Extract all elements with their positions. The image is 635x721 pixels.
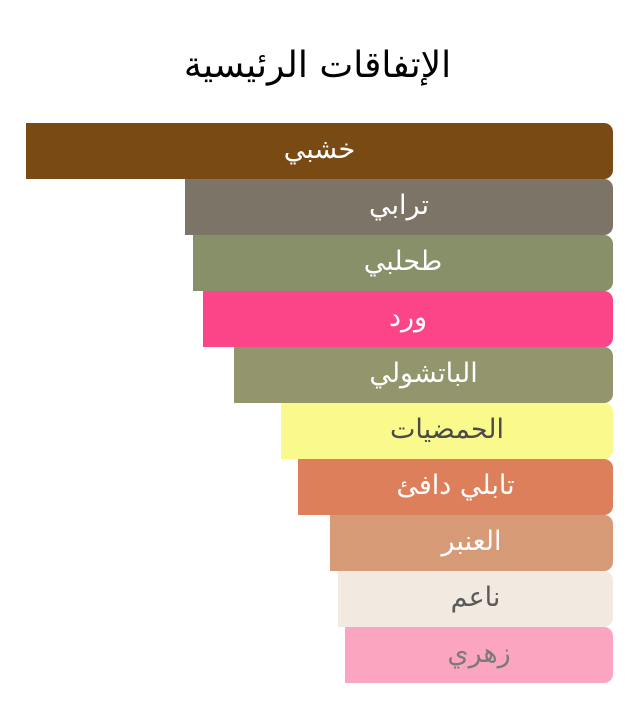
funnel-bar[interactable]: ناعم [338, 571, 613, 627]
funnel-bar[interactable]: العنبر [330, 515, 613, 571]
funnel-bar-label: الباتشولي [369, 359, 477, 391]
funnel-bar-label: طحلبي [364, 247, 443, 279]
funnel-bar[interactable]: الحمضيات [281, 403, 613, 459]
funnel-bar[interactable]: زهري [345, 627, 613, 683]
funnel-bar[interactable]: ترابي [185, 179, 613, 235]
funnel-bar-label: ناعم [451, 583, 501, 615]
funnel-bar[interactable]: تابلي دافئ [298, 459, 613, 515]
funnel-bar[interactable]: خشبي [26, 123, 613, 179]
funnel-bars-container: خشبيترابيطحلبيوردالباتشوليالحمضياتتابلي … [0, 0, 635, 721]
funnel-bar-label: ورد [389, 303, 427, 335]
funnel-bar[interactable]: طحلبي [193, 235, 613, 291]
funnel-bar[interactable]: الباتشولي [234, 347, 613, 403]
funnel-bar-label: العنبر [442, 527, 502, 559]
funnel-bar-label: الحمضيات [390, 415, 504, 447]
funnel-bar[interactable]: ورد [203, 291, 613, 347]
funnel-chart: الإتفاقات الرئيسية خشبيترابيطحلبيوردالبا… [0, 0, 635, 721]
funnel-bar-label: زهري [447, 639, 510, 671]
funnel-bar-label: تابلي دافئ [396, 471, 514, 503]
funnel-bar-label: ترابي [369, 191, 429, 223]
funnel-bar-label: خشبي [284, 135, 355, 167]
